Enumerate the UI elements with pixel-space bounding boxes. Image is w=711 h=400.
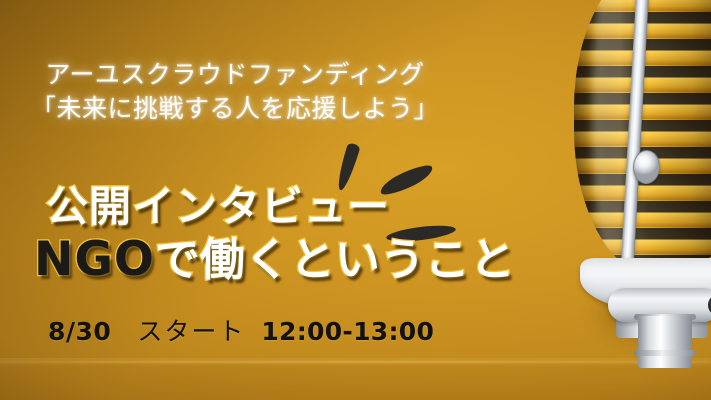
- microphone-stand-post: [638, 316, 692, 368]
- schedule-date: 8/30: [48, 317, 111, 346]
- subtitle-line-2: 「未来に挑戦する人を応援しよう」: [0, 92, 470, 126]
- headline-line-2: NGOで働くということ: [34, 236, 515, 283]
- event-banner: アーユスクラウドファンディング 「未来に挑戦する人を応援しよう」 公開インタビュ…: [0, 0, 711, 400]
- schedule-time: 12:00-13:00: [261, 317, 434, 346]
- subtitle-line-1: アーユスクラウドファンディング: [0, 58, 470, 92]
- banner-subtitle: アーユスクラウドファンディング 「未来に挑戦する人を応援しよう」: [0, 58, 470, 126]
- headline-line-1: 公開インタビュー: [46, 186, 390, 228]
- schedule-start-word: スタート: [137, 317, 245, 346]
- microphone-image: [520, 0, 711, 400]
- headline-ngo-accent: NGO: [34, 232, 155, 287]
- headline-line-1-text: 公開インタビュー: [46, 182, 390, 231]
- schedule-bar: 8/30スタート12:00-13:00: [48, 312, 434, 348]
- headline-line-2-text: で働くということ: [155, 233, 515, 286]
- microphone-stand-ring-bottom: [634, 350, 696, 356]
